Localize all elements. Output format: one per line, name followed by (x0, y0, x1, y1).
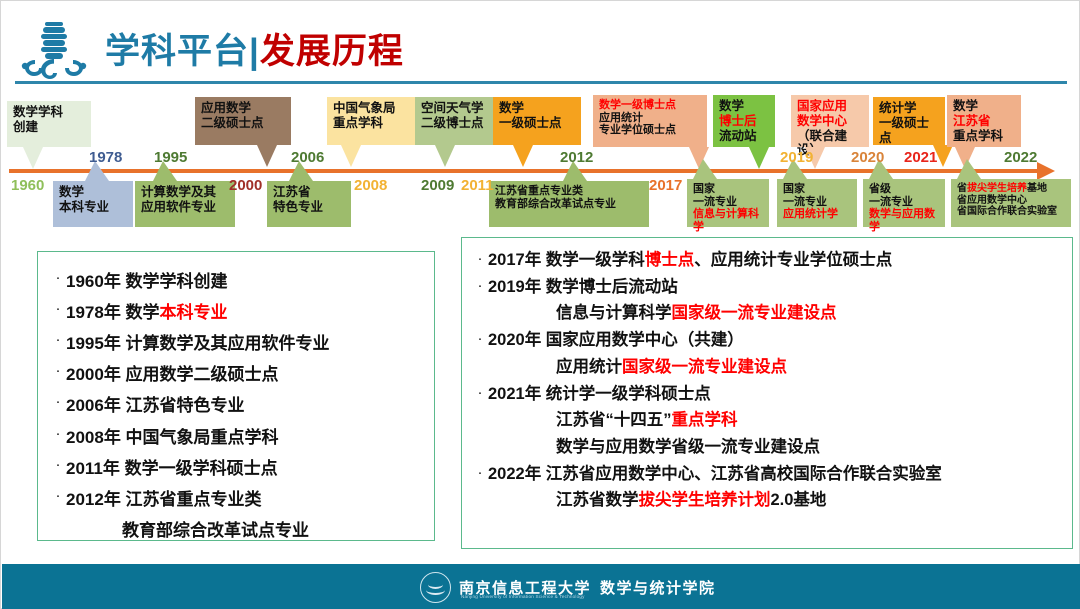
milestone-item: ·2021年 统计学一级学科硕士点 (472, 381, 1064, 408)
bullet-icon: · (472, 381, 488, 404)
footer-brand: 南京信息工程大学 Nanjing University of Informati… (420, 571, 670, 603)
milestones-panel-left: ·1960年 数学学科创建·1978年 数学本科专业·1995年 计算数学及其应… (37, 251, 435, 541)
timeline-box-above-2021: 统计学一级硕士点 (873, 97, 945, 145)
milestone-text: 2021年 统计学一级学科硕士点 (488, 381, 1064, 408)
bullet-icon: · (50, 484, 66, 507)
timeline-box-above-2008: 中国气象局重点学科 (327, 97, 419, 145)
timeline-year-2011: 2011 (461, 177, 494, 194)
milestone-text: 2000年 应用数学二级硕士点 (66, 359, 424, 390)
milestone-item: ·1978年 数学本科专业 (50, 297, 424, 328)
timeline-arrow-head-icon (1037, 162, 1055, 180)
timeline-year-2020: 2020 (851, 149, 884, 166)
chinese-cloud-ornament-icon (15, 18, 93, 80)
milestone-text: 2019年 数学博士后流动站 (488, 274, 1064, 301)
timeline-box-tail-above-2011 (513, 145, 533, 167)
university-seal-icon (420, 572, 451, 603)
bullet-icon: · (472, 274, 488, 297)
timeline: 数学学科创建应用数学二级硕士点中国气象局重点学科空间天气学二级博士点数学一级硕士… (1, 93, 1080, 233)
timeline-box-tail-above-2009 (435, 145, 455, 167)
milestone-text: 1995年 计算数学及其应用软件专业 (66, 328, 424, 359)
bullet-icon: · (50, 453, 66, 476)
timeline-box-tail-above-2000 (257, 145, 277, 167)
milestone-text: 1978年 数学本科专业 (66, 297, 424, 328)
bullet-icon: · (472, 327, 488, 350)
timeline-box-above-2019: 数学博士后流动站 (713, 95, 775, 147)
milestone-item: ·1960年 数学学科创建 (50, 266, 424, 297)
timeline-box-below-2017: 国家一流专业信息与计算科学 (687, 179, 769, 227)
milestone-item: ·2012年 江苏省重点专业类 (50, 484, 424, 515)
timeline-box-above-2020: 国家应用数学中心（联合建设） (791, 95, 869, 147)
bullet-icon: · (50, 266, 66, 289)
milestone-text: 2022年 江苏省应用数学中心、江苏省高校国际合作联合实验室 (488, 461, 1064, 488)
milestone-text: 2012年 江苏省重点专业类 (66, 484, 424, 515)
milestone-item: ·2000年 应用数学二级硕士点 (50, 359, 424, 390)
timeline-box-below-2020: 省级一流专业数学与应用数学 (863, 179, 945, 227)
milestone-item: ·2020年 国家应用数学中心（共建） (472, 327, 1064, 354)
milestone-text-continuation: 江苏省“十四五”重点学科 (472, 407, 1064, 434)
timeline-box-above-2017: 数学一级博士点应用统计专业学位硕士点 (593, 95, 707, 147)
timeline-box-above-2022: 数学江苏省重点学科 (947, 95, 1021, 147)
page-title-primary: 学科平台 (105, 32, 249, 71)
milestone-text-continuation: 信息与计算科学国家级一流专业建设点 (472, 300, 1064, 327)
milestone-text: 2011年 数学一级学科硕士点 (66, 453, 424, 484)
slide-canvas: 学科平台|发展历程 数学学科创建应用数学二级硕士点中国气象局重点学科空间天气学二… (0, 0, 1080, 609)
page-title-secondary: 发展历程 (260, 32, 404, 71)
milestone-text: 2017年 数学一级学科博士点、应用统计专业学位硕士点 (488, 247, 1064, 274)
timeline-box-tail-above-1960 (23, 147, 43, 169)
timeline-box-below-2012: 江苏省重点专业类教育部综合改革试点专业 (489, 181, 649, 227)
page-title-separator: | (249, 32, 260, 71)
footer-department-name: 数学与统计学院 (600, 577, 716, 598)
slide-header: 学科平台|发展历程 (1, 1, 1080, 93)
timeline-box-tail-below-2022 (957, 159, 981, 179)
page-title: 学科平台|发展历程 (105, 23, 404, 74)
timeline-year-2022: 2022 (1004, 149, 1037, 166)
header-divider (15, 81, 1067, 84)
timeline-year-2017: 2017 (649, 177, 682, 194)
milestone-text-continuation: 应用统计国家级一流专业建设点 (472, 354, 1064, 381)
timeline-box-below-2019: 国家一流专业应用统计学 (777, 179, 857, 227)
bullet-icon: · (50, 390, 66, 413)
timeline-box-below-1995: 计算数学及其应用软件专业 (135, 181, 235, 227)
timeline-box-above-2011: 数学一级硕士点 (493, 97, 581, 145)
milestone-item: ·2008年 中国气象局重点学科 (50, 422, 424, 453)
timeline-box-below-1978: 数学本科专业 (53, 181, 133, 227)
timeline-year-2012: 2012 (560, 149, 593, 166)
milestone-text-continuation: 教育部综合改革试点专业 (50, 515, 424, 546)
bullet-icon: · (50, 297, 66, 320)
milestone-text-continuation: 江苏省数学拔尖学生培养计划2.0基地 (472, 487, 1064, 514)
bullet-icon: · (50, 359, 66, 382)
timeline-box-above-1960: 数学学科创建 (7, 101, 91, 147)
milestone-item: ·2022年 江苏省应用数学中心、江苏省高校国际合作联合实验室 (472, 461, 1064, 488)
milestone-item: ·2011年 数学一级学科硕士点 (50, 453, 424, 484)
timeline-year-1995: 1995 (154, 149, 187, 166)
footer-university-name-en: Nanjing University of Information Scienc… (461, 594, 585, 599)
milestones-panel-right: ·2017年 数学一级学科博士点、应用统计专业学位硕士点·2019年 数学博士后… (461, 237, 1073, 549)
timeline-box-tail-below-2017 (693, 159, 717, 179)
timeline-box-tail-above-2008 (341, 145, 361, 167)
bullet-icon: · (472, 247, 488, 270)
milestone-text: 2020年 国家应用数学中心（共建） (488, 327, 1064, 354)
timeline-year-2009: 2009 (421, 177, 454, 194)
timeline-year-1978: 1978 (89, 149, 122, 166)
timeline-year-2019: 2019 (780, 149, 813, 166)
milestone-text: 1960年 数学学科创建 (66, 266, 424, 297)
timeline-year-2008: 2008 (354, 177, 387, 194)
timeline-year-2006: 2006 (291, 149, 324, 166)
timeline-box-below-2006: 江苏省特色专业 (267, 181, 351, 227)
timeline-box-tail-above-2019 (749, 147, 769, 169)
timeline-year-2000: 2000 (229, 177, 262, 194)
milestone-item: ·1995年 计算数学及其应用软件专业 (50, 328, 424, 359)
milestone-text-continuation: 数学与应用数学省级一流专业建设点 (472, 434, 1064, 461)
bullet-icon: · (50, 328, 66, 351)
milestone-item: ·2019年 数学博士后流动站 (472, 274, 1064, 301)
milestone-item: ·2006年 江苏省特色专业 (50, 390, 424, 421)
bullet-icon: · (50, 422, 66, 445)
timeline-box-below-2022: 省拔尖学生培养基地省应用数学中心省国际合作联合实验室 (951, 179, 1071, 227)
timeline-year-2021: 2021 (904, 149, 937, 166)
milestone-text: 2006年 江苏省特色专业 (66, 390, 424, 421)
bullet-icon: · (472, 461, 488, 484)
timeline-year-1960: 1960 (11, 177, 44, 194)
milestone-item: ·2017年 数学一级学科博士点、应用统计专业学位硕士点 (472, 247, 1064, 274)
timeline-box-above-2000: 应用数学二级硕士点 (195, 97, 291, 145)
milestone-text: 2008年 中国气象局重点学科 (66, 422, 424, 453)
